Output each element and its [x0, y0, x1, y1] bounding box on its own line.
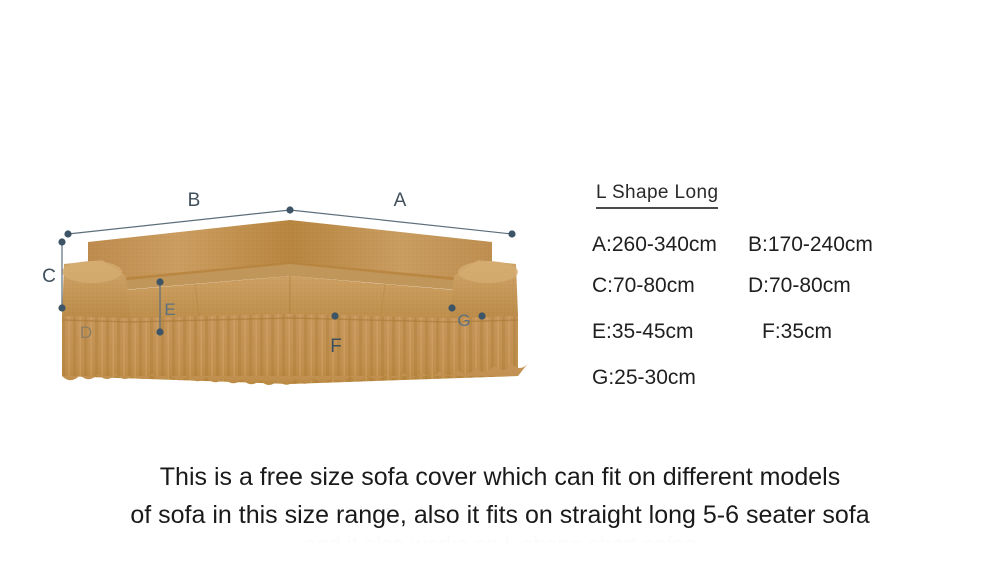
- spec-value-g: G:25-30cm: [592, 366, 748, 390]
- sofa-arm-left-top: [62, 261, 122, 283]
- description-line-2: of sofa in this size range, also it fits…: [0, 496, 1000, 534]
- diagram-label-e: E: [164, 300, 175, 319]
- diagram-label-f: F: [330, 336, 342, 357]
- diagram-label-g: G: [457, 311, 470, 330]
- marker-f: [331, 312, 338, 319]
- marker-top-left: [64, 230, 71, 237]
- spec-value-a: A:260-340cm: [592, 233, 748, 257]
- sofa-skirt-pleats: [62, 314, 518, 384]
- diagram-label-b: B: [188, 190, 201, 211]
- spec-value-empty: [748, 366, 948, 390]
- sofa-arm-right-top: [458, 261, 518, 283]
- description-line-3: and it also works on L shape short sofas: [0, 534, 1000, 543]
- spec-value-d: D:70-80cm: [748, 274, 948, 298]
- diagram-label-a: A: [394, 190, 407, 211]
- marker-top-right: [508, 230, 515, 237]
- marker-e-bottom: [156, 328, 163, 335]
- marker-top-apex: [286, 206, 293, 213]
- spec-row: C:70-80cm D:70-80cm: [592, 274, 972, 298]
- spec-value-f: F:35cm: [748, 320, 962, 344]
- diagram-label-c: C: [42, 266, 56, 287]
- spec-row: G:25-30cm: [592, 366, 972, 390]
- diagram-label-d: D: [80, 323, 92, 342]
- sofa-body: [62, 220, 529, 385]
- sofa-diagram: B A C E D F G: [40, 180, 560, 410]
- spec-row: A:260-340cm B:170-240cm: [592, 233, 972, 257]
- marker-e-top: [156, 278, 163, 285]
- sofa-illustration: B A C E D F G: [40, 180, 560, 410]
- spec-title: L Shape Long: [596, 182, 718, 209]
- spec-value-b: B:170-240cm: [748, 233, 948, 257]
- description-block: This is a free size sofa cover which can…: [0, 458, 1000, 543]
- description-line-1: This is a free size sofa cover which can…: [0, 458, 1000, 496]
- spec-value-e: E:35-45cm: [592, 320, 748, 344]
- spec-value-c: C:70-80cm: [592, 274, 748, 298]
- marker-g-left: [448, 304, 455, 311]
- size-spec-panel: L Shape Long A:260-340cm B:170-240cm C:7…: [592, 182, 972, 407]
- spec-row: E:35-45cm F:35cm: [592, 320, 972, 344]
- marker-g-right: [478, 312, 485, 319]
- marker-c-bottom: [58, 304, 65, 311]
- product-info-page: B A C E D F G L Shape Long A:260-340cm B…: [0, 0, 1000, 570]
- marker-c-top: [58, 238, 65, 245]
